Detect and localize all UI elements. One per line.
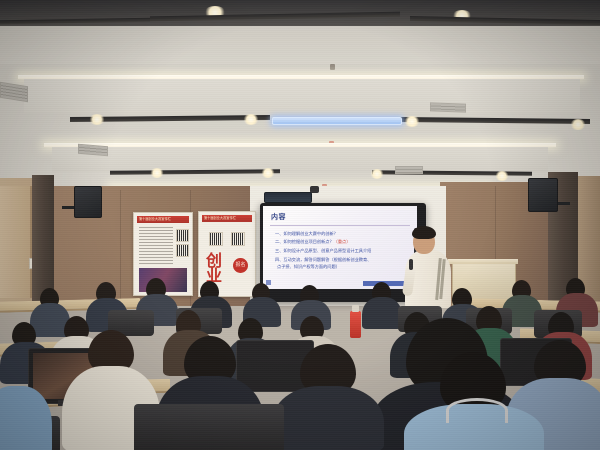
- slide-bullet-text: 点子授、知识产权等方面的问题）: [277, 264, 340, 269]
- ceiling-spot-light: [150, 168, 164, 178]
- ceiling-spot-light: [404, 116, 420, 127]
- panel-seam: [120, 190, 121, 306]
- slide-bullet-text: 如何设计产品原型、创意产品原型设计工具介绍: [283, 248, 371, 253]
- lecture-hall-photo: 第十届创业大赛宣传栏 第十届创业大赛宣传栏 创业 报名 内容 一、如何理解创业大…: [0, 0, 600, 450]
- wall-column-left: [32, 175, 54, 305]
- slide-bullet: 四、互动交流，解答问题解答（根据创新创业教育、: [275, 257, 371, 263]
- ceiling-spot-light: [261, 168, 275, 178]
- fire-extinguisher-nozzle: [352, 305, 359, 312]
- slide-bullet-text: 互动交流，解答问题解答（根据创新创业教育、: [283, 257, 371, 262]
- poster-header-text: 第十届创业大赛宣传栏: [139, 216, 187, 223]
- slide-corner-badge: [266, 280, 271, 285]
- ceiling-blue-lamp: [272, 117, 402, 125]
- air-vent: [395, 166, 423, 174]
- ceiling-spot-light: [243, 114, 259, 125]
- poster-seal: 报名: [233, 258, 248, 273]
- door-frame: [0, 186, 32, 298]
- poster-body-text: [139, 227, 173, 265]
- presenter-hair: [412, 226, 436, 239]
- poster-qr-code: [176, 229, 189, 242]
- headphones: [446, 398, 508, 423]
- ceiling-spot-light: [570, 119, 586, 130]
- podium-top: [448, 259, 518, 264]
- poster-qr-code: [231, 232, 245, 246]
- ceiling-spot-light: [89, 114, 105, 125]
- ceiling-panel: [24, 79, 580, 113]
- slide-bullet: 一、如何理解创业大赛中的创新？: [275, 231, 338, 237]
- poster-header-text: 第十届创业大赛宣传栏: [204, 215, 250, 222]
- slide-divider: [270, 225, 410, 226]
- poster-qr-code: [209, 232, 223, 246]
- fire-extinguisher: [350, 311, 361, 338]
- speaker-mount-arm: [556, 202, 570, 205]
- ceiling-panel: [52, 147, 548, 172]
- slide-bullet-text: 如何挖掘创业项目创新点？: [283, 239, 333, 244]
- wall-speaker-left: [74, 186, 102, 218]
- ceiling-spot-light: [495, 171, 509, 181]
- projection-screen-frame: 内容 一、如何理解创业大赛中的创新？ 二、如何挖掘创业项目创新点？（重点） 三、…: [260, 203, 426, 302]
- chair-back: [134, 404, 284, 450]
- sprinkler-head: [330, 64, 335, 70]
- audience-body: [362, 297, 402, 329]
- slide-bullet: 三、如何设计产品原型、创意产品原型设计工具介绍: [275, 248, 371, 254]
- presentation-slide: 内容 一、如何理解创业大赛中的创新？ 二、如何挖掘创业项目创新点？（重点） 三、…: [263, 206, 417, 289]
- wall-speaker-right: [528, 178, 558, 212]
- poster-qr-code: [176, 244, 189, 257]
- slide-bullet: 二、如何挖掘创业项目创新点？（重点）: [275, 239, 350, 245]
- ceiling-slab: [0, 26, 600, 64]
- slide-bullet-highlight: （重点）: [334, 239, 351, 244]
- microphone: [409, 259, 413, 270]
- poster-headline: 创业: [206, 254, 224, 284]
- front-soundbar: [264, 192, 312, 203]
- slide-bullet-text: 如何理解创业大赛中的创新？: [283, 231, 337, 236]
- slide-bullet: 点子授、知识产权等方面的问题）: [277, 264, 340, 270]
- audience-body: [272, 386, 384, 450]
- ceiling-spot-light: [370, 169, 384, 179]
- slide-title: 内容: [271, 212, 286, 222]
- air-vent: [430, 102, 466, 112]
